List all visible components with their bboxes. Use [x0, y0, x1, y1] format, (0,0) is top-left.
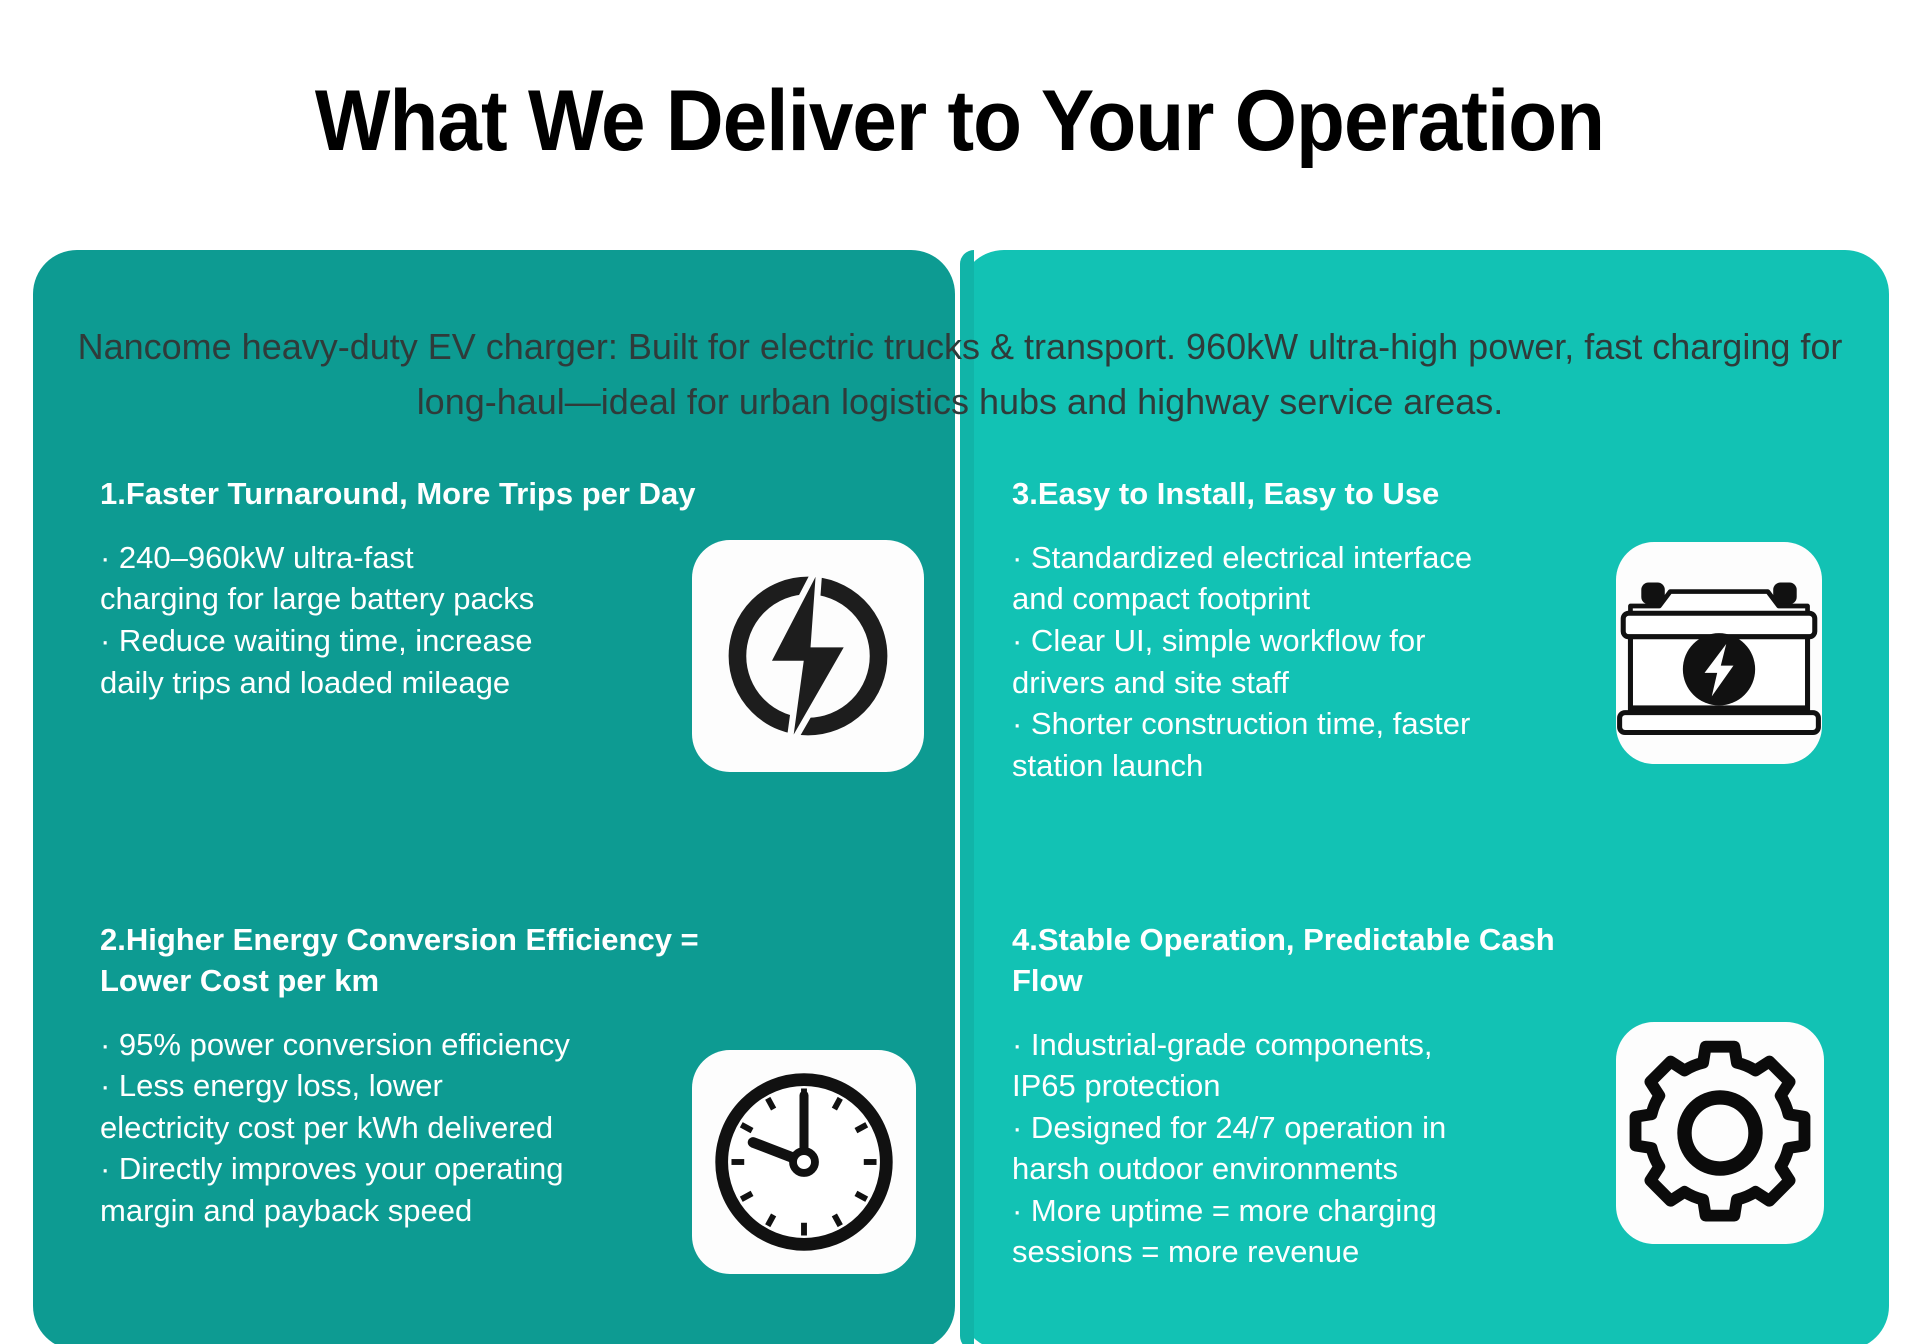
benefit-3-line-2: and compact footprint — [1012, 578, 1602, 620]
benefit-3-line-6: station launch — [1012, 745, 1602, 787]
gear-icon — [1624, 1037, 1816, 1229]
clock-icon-card — [692, 1050, 916, 1274]
benefit-4-line-6: sessions = more revenue — [1012, 1231, 1632, 1273]
benefit-block-4: 4.Stable Operation, Predictable Cash Flo… — [1012, 920, 1632, 1273]
benefit-4-line-3: · Designed for 24/7 operation in — [1012, 1107, 1632, 1149]
infographic-canvas: What We Deliver to Your Operation Nancom… — [0, 0, 1919, 1344]
benefit-1-body: · 240–960kW ultra-fast charging for larg… — [100, 537, 700, 703]
benefit-3-line-1: · Standardized electrical interface — [1012, 537, 1602, 579]
benefit-3-body: · Standardized electrical interface and … — [1012, 537, 1602, 786]
benefit-block-2: 2.Higher Energy Conversion Efficiency = … — [100, 920, 780, 1231]
gear-icon-card — [1616, 1022, 1824, 1244]
benefit-3-line-4: drivers and site staff — [1012, 662, 1602, 704]
benefit-3-heading: 3.Easy to Install, Easy to Use — [1012, 474, 1602, 515]
benefit-4-line-5: · More uptime = more charging — [1012, 1190, 1632, 1232]
benefit-2-heading: 2.Higher Energy Conversion Efficiency = … — [100, 920, 780, 1002]
benefit-1-line-1: · 240–960kW ultra-fast — [100, 537, 700, 579]
benefit-4-body: · Industrial-grade components, IP65 prot… — [1012, 1024, 1632, 1273]
benefit-4-line-2: IP65 protection — [1012, 1065, 1632, 1107]
car-battery-icon — [1616, 553, 1822, 753]
benefit-2-line-4: · Directly improves your operating — [100, 1148, 780, 1190]
car-battery-icon-card — [1616, 542, 1822, 764]
benefit-1-line-2: charging for large battery packs — [100, 578, 700, 620]
benefit-1-line-4: daily trips and loaded mileage — [100, 662, 700, 704]
benefit-1-line-3: · Reduce waiting time, increase — [100, 620, 700, 662]
lightning-bolt-icon — [710, 558, 906, 754]
benefit-4-heading: 4.Stable Operation, Predictable Cash Flo… — [1012, 920, 1632, 1002]
intro-paragraph: Nancome heavy-duty EV charger: Built for… — [60, 320, 1860, 429]
benefit-3-line-3: · Clear UI, simple workflow for — [1012, 620, 1602, 662]
benefit-2-line-5: margin and payback speed — [100, 1190, 780, 1232]
benefit-block-3: 3.Easy to Install, Easy to Use · Standar… — [1012, 474, 1602, 786]
page-title: What We Deliver to Your Operation — [67, 78, 1852, 164]
benefit-2-line-1: · 95% power conversion efficiency — [100, 1024, 780, 1066]
benefit-3-line-5: · Shorter construction time, faster — [1012, 703, 1602, 745]
benefit-2-line-3: electricity cost per kWh delivered — [100, 1107, 780, 1149]
lightning-bolt-icon-card — [692, 540, 924, 772]
benefit-1-heading: 1.Faster Turnaround, More Trips per Day — [100, 474, 700, 515]
clock-icon — [706, 1064, 902, 1260]
benefit-block-1: 1.Faster Turnaround, More Trips per Day … — [100, 474, 700, 703]
benefit-4-line-1: · Industrial-grade components, — [1012, 1024, 1632, 1066]
benefit-2-body: · 95% power conversion efficiency · Less… — [100, 1024, 780, 1232]
benefit-4-line-4: harsh outdoor environments — [1012, 1148, 1632, 1190]
benefit-2-line-2: · Less energy loss, lower — [100, 1065, 780, 1107]
